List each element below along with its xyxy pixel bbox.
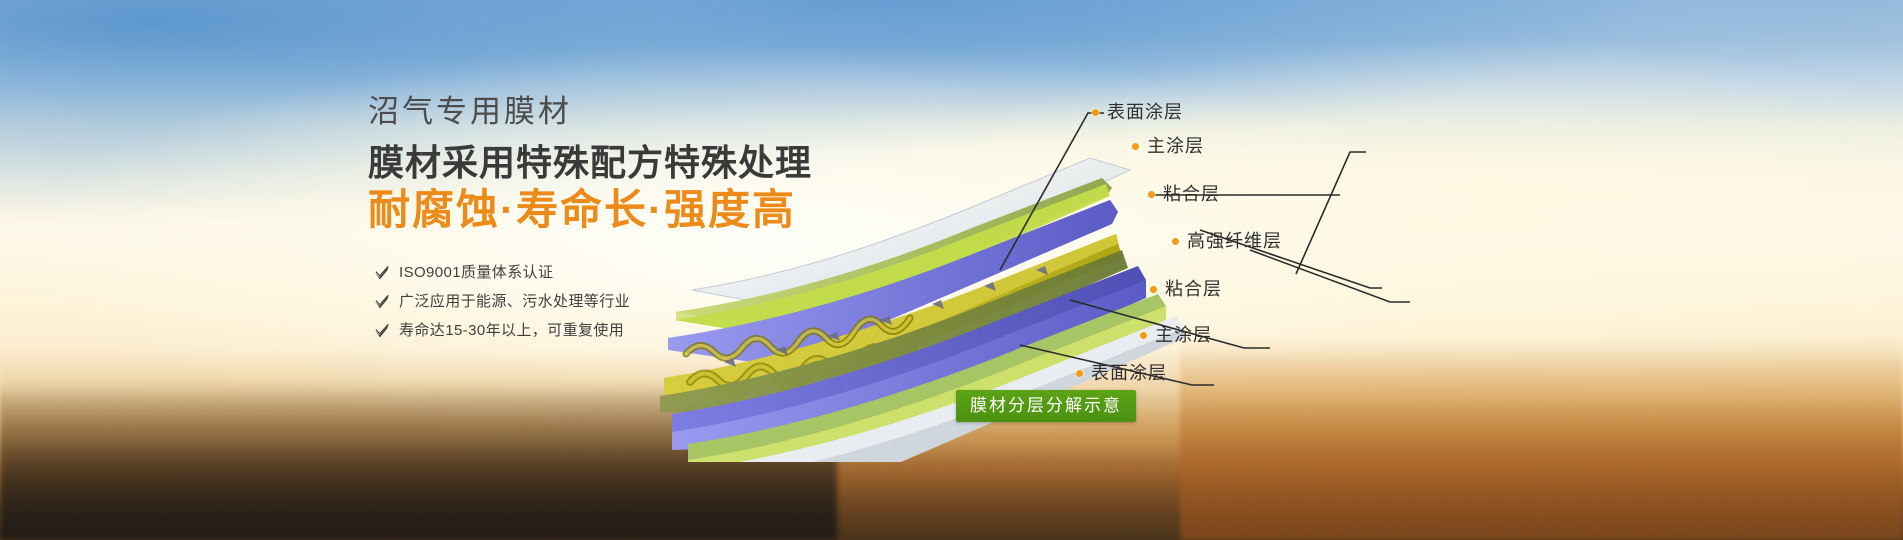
- callout-surface-coat-top: 表面涂层: [1092, 103, 1183, 121]
- callout-surface-coat-bottom: 表面涂层: [1076, 364, 1167, 382]
- illustration-badge: 膜材分层分解示意: [956, 390, 1136, 422]
- callout-label: 主涂层: [1155, 326, 1212, 344]
- callout-label: 表面涂层: [1107, 103, 1183, 121]
- list-item-label: ISO9001质量体系认证: [399, 265, 553, 280]
- callout-bond-top: 粘合层: [1148, 185, 1220, 203]
- bullet-dot-icon: [1132, 143, 1139, 150]
- bullet-dot-icon: [1076, 370, 1083, 377]
- callout-main-coat-top: 主涂层: [1132, 137, 1204, 155]
- check-icon: [374, 265, 390, 281]
- callout-label: 主涂层: [1147, 137, 1204, 155]
- callout-label: 高强纤维层: [1187, 232, 1282, 250]
- check-icon: [374, 294, 390, 310]
- callout-label: 表面涂层: [1091, 364, 1167, 382]
- list-item-label: 寿命达15-30年以上，可重复使用: [399, 323, 624, 338]
- bullet-dot-icon: [1148, 191, 1155, 198]
- callout-label: 粘合层: [1165, 280, 1222, 298]
- bullet-dot-icon: [1092, 109, 1099, 116]
- check-icon: [374, 323, 390, 339]
- callout-label: 粘合层: [1163, 185, 1220, 203]
- callout-main-coat-bottom: 主涂层: [1140, 326, 1212, 344]
- list-item-label: 广泛应用于能源、污水处理等行业: [399, 294, 630, 309]
- callout-bond-bottom: 粘合层: [1150, 280, 1222, 298]
- bullet-dot-icon: [1150, 286, 1157, 293]
- callout-fiber-layer: 高强纤维层: [1172, 232, 1282, 250]
- bullet-dot-icon: [1140, 332, 1147, 339]
- membrane-layer-illustration: [660, 62, 1220, 462]
- bullet-dot-icon: [1172, 238, 1179, 245]
- banner-root: 沼气专用膜材 膜材采用特殊配方特殊处理 耐腐蚀·寿命长·强度高 ISO9001质…: [0, 0, 1903, 540]
